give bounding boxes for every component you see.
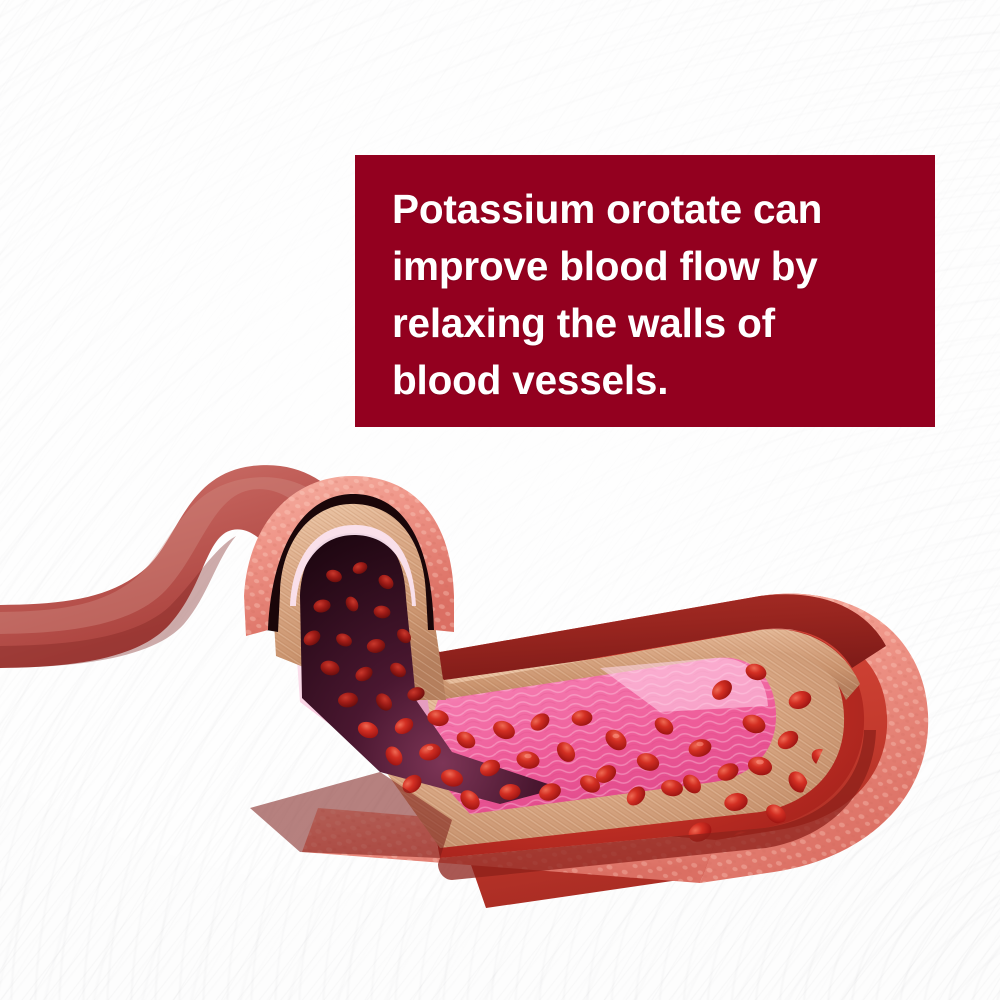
rbc-highlight [756,760,764,765]
rbc-highlight [427,746,434,750]
rbc-highlight [613,734,620,738]
infographic-canvas: Potassium orotate can improve blood flow… [0,0,1000,1000]
rbc-highlight [696,742,703,747]
blood-vessel-illustration [0,400,1000,1000]
caption-text: Potassium orotate can improve blood flow… [392,181,905,409]
rbc-highlight [524,754,531,759]
caption-banner: Potassium orotate can improve blood flow… [355,155,935,427]
